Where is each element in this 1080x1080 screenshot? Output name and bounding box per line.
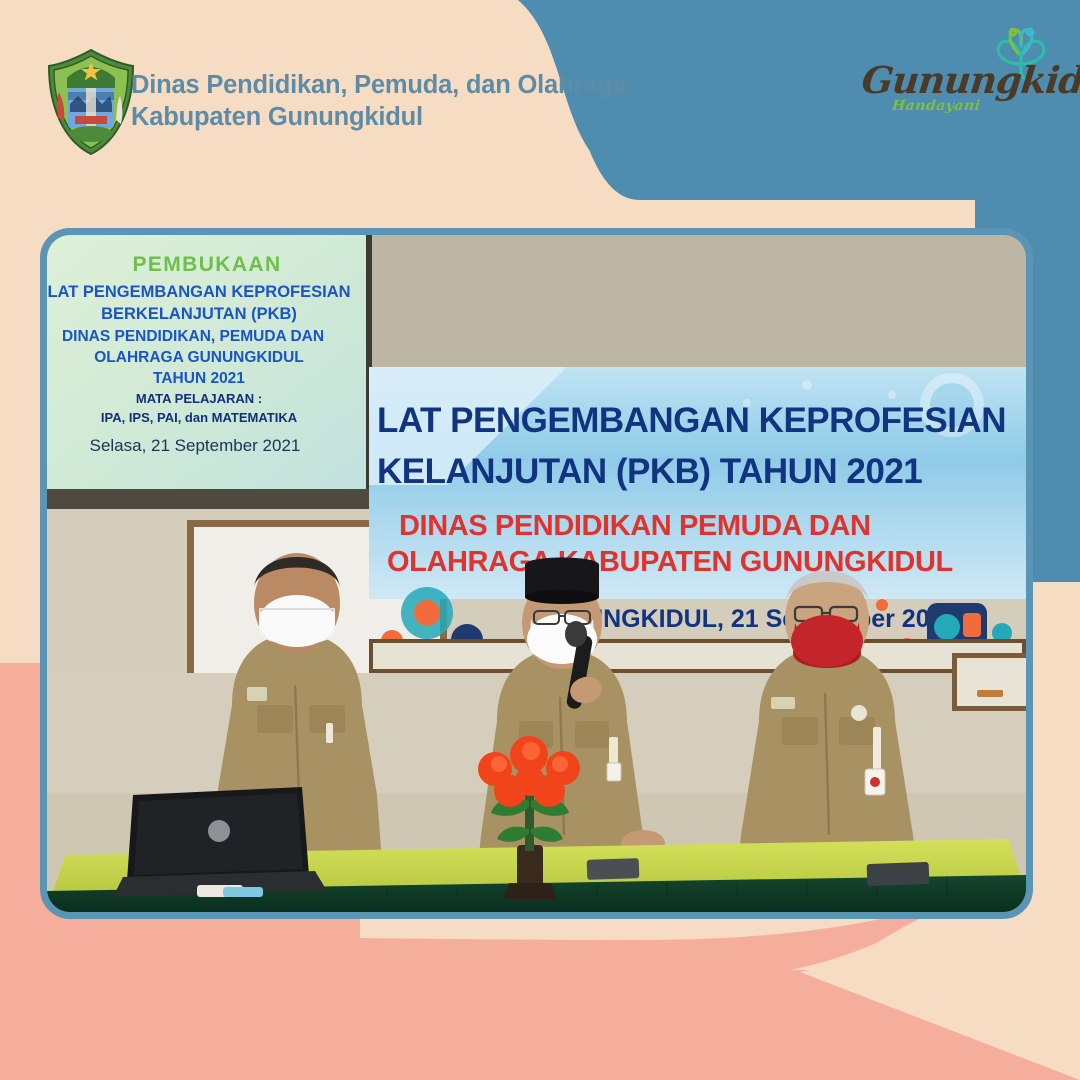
event-photo-card: PEMBUKAAN LAT PENGEMBANGAN KEPROFESIAN B… xyxy=(40,228,1033,919)
svg-text:Selasa, 21 September 2021: Selasa, 21 September 2021 xyxy=(90,436,301,455)
svg-text:LAT PENGEMBANGAN KEPROFESIAN: LAT PENGEMBANGAN KEPROFESIAN xyxy=(377,401,1006,440)
brand-wordmark: Gunungkidul xyxy=(860,58,1040,102)
dept-title-line2: Kabupaten Gunungkidul xyxy=(131,101,691,133)
poster-header: Dinas Pendidikan, Pemuda, dan Olahraga K… xyxy=(0,0,1080,200)
regency-crest-icon xyxy=(45,48,137,156)
svg-text:OLAHRAGA GUNUNGKIDUL: OLAHRAGA GUNUNGKIDUL xyxy=(94,349,304,366)
svg-text:BERKELANJUTAN (PKB): BERKELANJUTAN (PKB) xyxy=(101,305,297,323)
svg-text:IPA, IPS, PAI, dan MATEMATIKA: IPA, IPS, PAI, dan MATEMATIKA xyxy=(101,410,298,425)
svg-text:OLAHRAGA KABUPATEN GUNUNGKIDUL: OLAHRAGA KABUPATEN GUNUNGKIDUL xyxy=(387,546,953,578)
svg-text:KELANJUTAN (PKB) TAHUN 2021: KELANJUTAN (PKB) TAHUN 2021 xyxy=(377,452,922,491)
svg-text:PEMBUKAAN: PEMBUKAAN xyxy=(132,253,281,276)
svg-text:DINAS PENDIDIKAN, PEMUDA DAN: DINAS PENDIDIKAN, PEMUDA DAN xyxy=(62,328,324,345)
svg-text:TAHUN 2021: TAHUN 2021 xyxy=(153,370,245,387)
svg-text:DINAS PENDIDIKAN PEMUDA DAN: DINAS PENDIDIKAN PEMUDA DAN xyxy=(399,510,870,542)
svg-text:LAT PENGEMBANGAN KEPROFESIAN: LAT PENGEMBANGAN KEPROFESIAN xyxy=(47,283,350,301)
event-photo: PEMBUKAAN LAT PENGEMBANGAN KEPROFESIAN B… xyxy=(47,235,1026,912)
svg-text:MATA PELAJARAN :: MATA PELAJARAN : xyxy=(136,391,262,406)
page-title: Dinas Pendidikan, Pemuda, dan Olahraga K… xyxy=(131,69,691,133)
brand-tagline: Handayani xyxy=(891,98,981,114)
gunungkidul-brand-logo: Gunungkidul Handayani xyxy=(862,40,1062,126)
poster-canvas: Dinas Pendidikan, Pemuda, dan Olahraga K… xyxy=(0,0,1080,1080)
poster-footer: @dikpora_gk pendidikan.gunungkidulkab.go… xyxy=(0,940,1080,1080)
svg-text:NUNGKIDUL, 21 September 2021: NUNGKIDUL, 21 September 2021 xyxy=(567,605,958,633)
dept-title-line1: Dinas Pendidikan, Pemuda, dan Olahraga xyxy=(131,69,691,101)
